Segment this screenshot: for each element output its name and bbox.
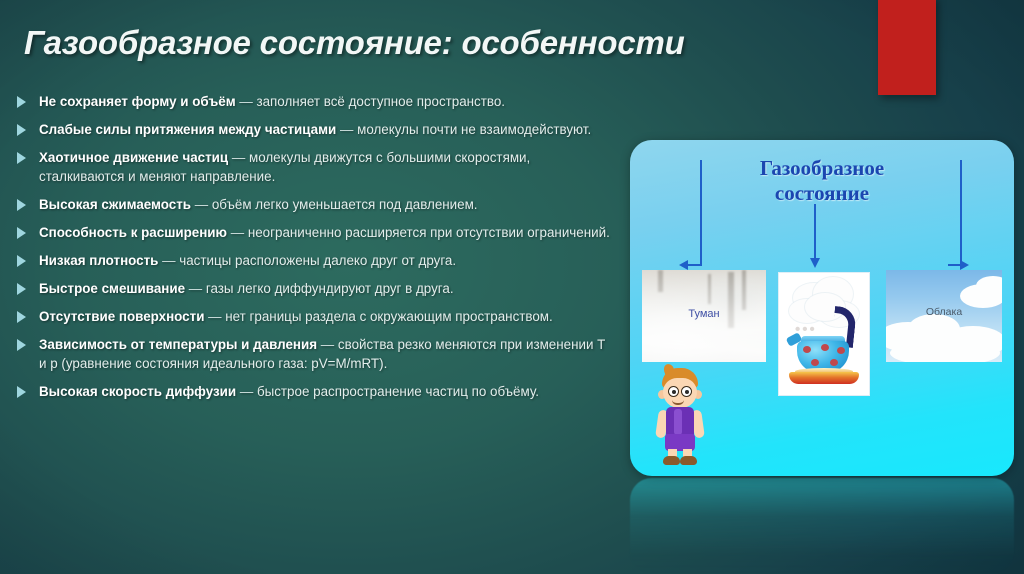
bullet-dash: — xyxy=(185,281,206,296)
bullet-lead: Высокая скорость диффузии xyxy=(39,384,236,399)
arrow-to-steam-icon xyxy=(808,204,822,268)
kettle-steam-photo-tile: ••• xyxy=(778,272,870,396)
triangle-bullet-icon xyxy=(17,255,26,267)
clouds-label: Облака xyxy=(886,306,1002,318)
bullet-lead: Хаотичное движение частиц xyxy=(39,150,228,165)
triangle-bullet-icon xyxy=(17,283,26,295)
list-item: Высокая скорость диффузии — быстрое расп… xyxy=(14,382,614,401)
list-item: Зависимость от температуры и давления — … xyxy=(14,335,614,373)
bullet-rest: быстрое распространение частиц по объёму… xyxy=(257,384,539,399)
bullet-text: Способность к расширению — неограниченно… xyxy=(39,223,614,242)
fog-label: Туман xyxy=(642,308,766,320)
panel-reflection xyxy=(630,478,1014,574)
bullet-text: Зависимость от температуры и давления — … xyxy=(39,335,614,373)
triangle-bullet-icon xyxy=(17,96,26,108)
illustration-panel: Газообразное состояние xyxy=(630,140,1014,476)
bullet-lead: Слабые силы притяжения между частицами xyxy=(39,122,336,137)
feature-bullet-list: Не сохраняет форму и объём — заполняет в… xyxy=(14,92,614,410)
bullet-lead: Способность к расширению xyxy=(39,225,227,240)
bullet-text: Высокая скорость диффузии — быстрое расп… xyxy=(39,382,614,401)
bullet-lead: Низкая плотность xyxy=(39,253,158,268)
bullet-lead: Зависимость от температуры и давления xyxy=(39,337,317,352)
fog-photo-tile: Туман xyxy=(642,270,766,362)
page-title: Газообразное состояние: особенности xyxy=(24,24,844,62)
bullet-dash: — xyxy=(191,197,212,212)
bullet-text: Высокая сжимаемость — объём легко уменьш… xyxy=(39,195,614,214)
triangle-bullet-icon xyxy=(17,124,26,136)
bullet-lead: Отсутствие поверхности xyxy=(39,309,204,324)
triangle-bullet-icon xyxy=(17,386,26,398)
slide-canvas: Газообразное состояние: особенности Не с… xyxy=(0,0,1024,574)
list-item: Отсутствие поверхности — нет границы раз… xyxy=(14,307,614,326)
arrow-to-fog-icon xyxy=(678,160,718,270)
bullet-text: Отсутствие поверхности — нет границы раз… xyxy=(39,307,614,326)
triangle-bullet-icon xyxy=(17,227,26,239)
triangle-bullet-icon xyxy=(17,339,26,351)
red-accent-block xyxy=(878,0,936,95)
bullet-rest: нет границы раздела с окружающим простра… xyxy=(225,309,552,324)
triangle-bullet-icon xyxy=(17,152,26,164)
bullet-dash: — xyxy=(336,122,357,137)
bullet-dash: — xyxy=(228,150,249,165)
bullet-rest: молекулы почти не взаимодействуют. xyxy=(357,122,591,137)
list-item: Способность к расширению — неограниченно… xyxy=(14,223,614,242)
bullet-rest: объём легко уменьшается под давлением. xyxy=(212,197,478,212)
clouds-photo-tile: Облака xyxy=(886,270,1002,362)
bullet-lead: Высокая сжимаемость xyxy=(39,197,191,212)
bullet-text: Хаотичное движение частиц — молекулы дви… xyxy=(39,148,614,186)
list-item: Не сохраняет форму и объём — заполняет в… xyxy=(14,92,614,111)
triangle-bullet-icon xyxy=(17,311,26,323)
bullet-dash: — xyxy=(236,94,257,109)
bullet-dash: — xyxy=(236,384,257,399)
illustration-panel-wrapper: Газообразное состояние xyxy=(630,140,1014,476)
bullet-rest: неограниченно расширяется при отсутствии… xyxy=(248,225,610,240)
bullet-text: Низкая плотность — частицы расположены д… xyxy=(39,251,614,270)
bullet-dash: — xyxy=(204,309,225,324)
list-item: Быстрое смешивание — газы легко диффунди… xyxy=(14,279,614,298)
bullet-dash: — xyxy=(317,337,338,352)
triangle-bullet-icon xyxy=(17,199,26,211)
bullet-rest: заполняет всё доступное пространство. xyxy=(256,94,505,109)
bullet-rest: газы легко диффундируют друг в друга. xyxy=(206,281,454,296)
list-item: Слабые силы притяжения между частицами —… xyxy=(14,120,614,139)
cartoon-boy-figure xyxy=(652,368,710,464)
bullet-lead: Быстрое смешивание xyxy=(39,281,185,296)
bullet-rest: частицы расположены далеко друг от друга… xyxy=(179,253,456,268)
bullet-lead: Не сохраняет форму и объём xyxy=(39,94,236,109)
bullet-text: Слабые силы притяжения между частицами —… xyxy=(39,120,614,139)
bullet-text: Не сохраняет форму и объём — заполняет в… xyxy=(39,92,614,111)
bullet-text: Быстрое смешивание — газы легко диффунди… xyxy=(39,279,614,298)
list-item: Низкая плотность — частицы расположены д… xyxy=(14,251,614,270)
list-item: Хаотичное движение частиц — молекулы дви… xyxy=(14,148,614,186)
list-item: Высокая сжимаемость — объём легко уменьш… xyxy=(14,195,614,214)
kettle-stand xyxy=(789,372,859,384)
arrow-to-clouds-icon xyxy=(930,160,970,270)
bullet-dash: — xyxy=(158,253,179,268)
bullet-dash: — xyxy=(227,225,248,240)
